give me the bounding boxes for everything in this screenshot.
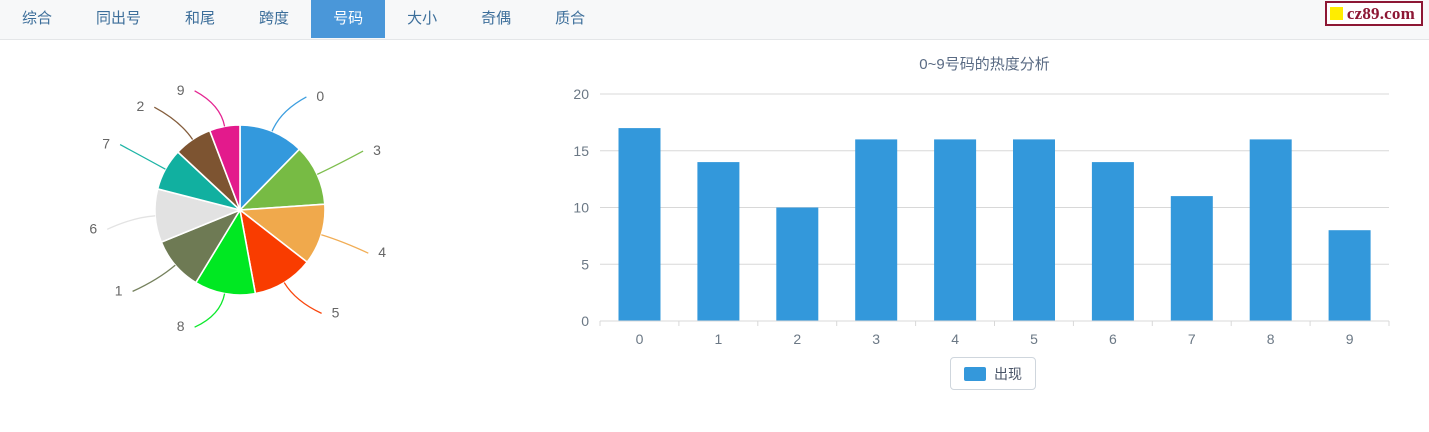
pie-leader-line-2 <box>154 107 192 139</box>
site-logo[interactable]: cz89.com <box>1325 1 1423 26</box>
tab-label: 奇偶 <box>481 10 511 27</box>
bar-chart-panel: 0~9号码的热度分析 05101520 0123456789 出现 <box>540 41 1429 432</box>
pie-leader-line-9 <box>195 91 225 127</box>
tab-zonghe[interactable]: 综合 <box>0 0 74 38</box>
tab-label: 号码 <box>333 10 363 27</box>
bar-8[interactable] <box>1250 139 1292 321</box>
tab-zhihe[interactable]: 质合 <box>533 0 607 38</box>
pie-label-6: 6 <box>89 220 97 236</box>
x-tick-label-9: 9 <box>1346 331 1354 347</box>
bar-7[interactable] <box>1171 196 1213 321</box>
legend-swatch-icon <box>964 367 986 381</box>
pie-label-4: 4 <box>378 244 386 260</box>
logo-text: cz89.com <box>1347 5 1415 22</box>
x-tick-label-3: 3 <box>872 331 880 347</box>
bar-2[interactable] <box>776 208 818 322</box>
bar-3[interactable] <box>855 139 897 321</box>
pie-label-3: 3 <box>373 142 381 158</box>
pie-label-1: 1 <box>115 282 123 298</box>
bar-4[interactable] <box>934 139 976 321</box>
pie-label-8: 8 <box>177 318 185 334</box>
pie-label-0: 0 <box>316 88 324 104</box>
y-tick-label-0: 0 <box>581 313 589 329</box>
tab-tongchuhao[interactable]: 同出号 <box>74 0 163 38</box>
bar-1[interactable] <box>697 162 739 321</box>
y-axis-tick-group: 05101520 <box>573 86 589 329</box>
x-tick-label-7: 7 <box>1188 331 1196 347</box>
y-tick-label-20: 20 <box>573 86 589 102</box>
bar-6[interactable] <box>1092 162 1134 321</box>
tab-label: 综合 <box>22 10 52 27</box>
tab-jiou[interactable]: 奇偶 <box>459 0 533 38</box>
tab-list: 综合 同出号 和尾 跨度 号码 大小 奇偶 质合 <box>0 0 607 38</box>
bar-group <box>619 128 1371 321</box>
tab-daxiao[interactable]: 大小 <box>385 0 459 38</box>
x-tick-label-0: 0 <box>636 331 644 347</box>
bar-0[interactable] <box>619 128 661 321</box>
x-tick-label-1: 1 <box>715 331 723 347</box>
tab-haoma[interactable]: 号码 <box>311 0 385 38</box>
pie-leader-line-6 <box>107 216 155 230</box>
bar-9[interactable] <box>1329 230 1371 321</box>
tab-hewei[interactable]: 和尾 <box>163 0 237 38</box>
pie-leader-line-3 <box>317 151 363 174</box>
x-tick-label-5: 5 <box>1030 331 1038 347</box>
x-tick-label-4: 4 <box>951 331 959 347</box>
tab-kuadu[interactable]: 跨度 <box>237 0 311 38</box>
pie-leader-line-8 <box>195 294 225 328</box>
legend-label: 出现 <box>994 367 1022 381</box>
tab-label: 同出号 <box>96 10 141 27</box>
tab-label: 大小 <box>407 10 437 27</box>
pie-label-2: 2 <box>137 98 145 114</box>
bar-5[interactable] <box>1013 139 1055 321</box>
y-tick-label-10: 10 <box>573 200 589 216</box>
x-tick-label-2: 2 <box>793 331 801 347</box>
pie-leader-line-4 <box>321 235 368 253</box>
content-area: 0345816729 0~9号码的热度分析 05101520 012345678… <box>0 41 1429 432</box>
tab-label: 质合 <box>555 10 585 27</box>
pie-label-9: 9 <box>177 82 185 98</box>
pie-label-7: 7 <box>102 136 110 152</box>
y-tick-label-15: 15 <box>573 143 589 159</box>
bar-chart-legend[interactable]: 出现 <box>950 357 1036 390</box>
x-tick-label-6: 6 <box>1109 331 1117 347</box>
top-navigation-bar: 综合 同出号 和尾 跨度 号码 大小 奇偶 质合 cz89.com <box>0 0 1429 40</box>
x-tick-label-8: 8 <box>1267 331 1275 347</box>
x-axis-tick-group: 0123456789 <box>600 321 1389 347</box>
logo-square-icon <box>1330 7 1343 20</box>
pie-chart-panel: 0345816729 <box>0 41 540 432</box>
pie-leader-line-0 <box>272 97 306 131</box>
tab-label: 跨度 <box>259 10 289 27</box>
pie-label-5: 5 <box>332 304 340 320</box>
pie-leader-line-1 <box>133 265 176 291</box>
pie-leader-line-5 <box>284 283 321 314</box>
pie-leader-line-7 <box>120 145 165 170</box>
tab-label: 和尾 <box>185 10 215 27</box>
pie-slice-group <box>155 125 325 295</box>
pie-chart[interactable]: 0345816729 <box>0 41 540 432</box>
y-tick-label-5: 5 <box>581 256 589 272</box>
